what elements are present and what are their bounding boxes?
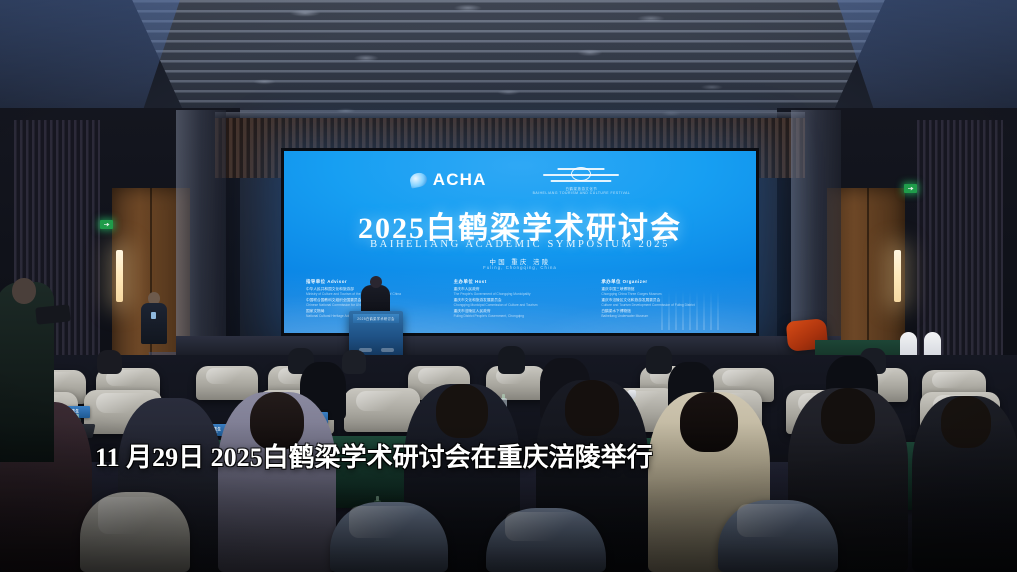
lanyard-badge bbox=[151, 312, 156, 319]
screen-logo-row: ACHA 白鹤梁旅游文化节 BAIHELIANG TOURISM AND CUL… bbox=[284, 165, 756, 195]
audience-person bbox=[646, 346, 672, 374]
wall-sconce-right bbox=[894, 250, 901, 302]
organizer-column: 主办单位 Host重庆市人民政府The People's Government … bbox=[454, 279, 587, 320]
screen-subtitle: BAIHELIANG ACADEMIC SYMPOSIUM 2025 bbox=[284, 239, 756, 250]
person-head bbox=[821, 388, 875, 444]
camera-rig bbox=[35, 304, 71, 324]
person-head bbox=[941, 396, 991, 448]
person-head bbox=[565, 380, 619, 436]
organizer-line-en: The People's Government of Chongqing Mun… bbox=[454, 292, 587, 297]
exit-sign-icon-right bbox=[904, 184, 917, 193]
festival-logo-en: BAIHELIANG TOURISM AND CULTURE FESTIVAL bbox=[533, 191, 631, 195]
audience-person bbox=[97, 350, 122, 374]
wall-sconce-left bbox=[116, 250, 123, 302]
organizer-line-en: Chongqing China Three Gorges Museum bbox=[601, 292, 734, 297]
staff-member-standing bbox=[141, 292, 167, 344]
organizer-column-heading: 主办单位 Host bbox=[454, 279, 587, 285]
video-frame: ACHA 白鹤梁旅游文化节 BAIHELIANG TOURISM AND CUL… bbox=[0, 0, 1017, 572]
organizer-line-en: Chongqing Municipal Commission of Cultur… bbox=[454, 303, 587, 308]
audience-person bbox=[498, 346, 525, 374]
organizer-column-heading: 承办单位 Organizer bbox=[601, 279, 734, 285]
organizer-line-en: Fuling District People's Government, Cho… bbox=[454, 314, 587, 319]
organizer-line-en: Culture and Tourism Development Commissi… bbox=[601, 303, 734, 308]
audience-person-foreground bbox=[218, 392, 336, 572]
audience-person-foreground bbox=[912, 396, 1017, 572]
led-screen-bezel: ACHA 白鹤梁旅游文化节 BAIHELIANG TOURISM AND CUL… bbox=[281, 148, 759, 336]
audience-person bbox=[342, 350, 366, 374]
acha-logo: ACHA bbox=[410, 170, 487, 190]
podium-branding-plate: 2025白鹤梁学术研讨会 bbox=[353, 314, 399, 323]
person-head bbox=[12, 278, 36, 304]
festival-logo: 白鹤梁旅游文化节 BAIHELIANG TOURISM AND CULTURE … bbox=[533, 165, 631, 195]
person-body bbox=[141, 303, 167, 344]
podium-plate-text: 2025白鹤梁学术研讨会 bbox=[357, 316, 394, 321]
video-caption: 11 月29日 2025白鹤梁学术研讨会在重庆涪陵举行 bbox=[95, 437, 653, 474]
baiheliang-wave-mark-icon bbox=[543, 165, 619, 185]
audience-seat bbox=[196, 366, 258, 400]
camera-operator bbox=[0, 282, 54, 462]
organizer-line-en: Baiheliang Underwater Museum bbox=[601, 314, 734, 319]
podium-logo-mark bbox=[381, 348, 394, 352]
screen-place-en: Fuling, Chongqing, China bbox=[284, 265, 756, 270]
acha-swirl-mark-icon bbox=[408, 171, 428, 188]
person-head bbox=[680, 392, 738, 452]
person-head bbox=[436, 384, 488, 438]
exit-sign-icon-left bbox=[100, 220, 113, 229]
audience-seat-foreground bbox=[330, 502, 448, 572]
audience-seat-foreground bbox=[80, 492, 190, 572]
organizer-column: 承办单位 Organizer重庆中国三峡博物馆Chongqing China T… bbox=[601, 279, 734, 320]
acha-logo-text: ACHA bbox=[433, 170, 487, 190]
led-screen: ACHA 白鹤梁旅游文化节 BAIHELIANG TOURISM AND CUL… bbox=[284, 151, 756, 333]
audience-seat-foreground bbox=[718, 500, 838, 572]
